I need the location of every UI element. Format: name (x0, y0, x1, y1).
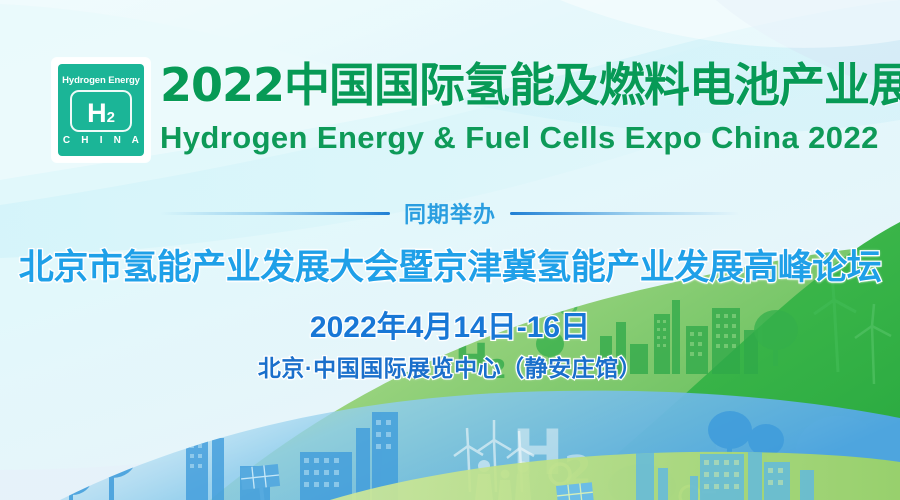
logo-h2-text: H2 (87, 100, 115, 130)
logo-inner-tile: Hydrogen Energy H2 C H I N A (58, 64, 144, 156)
logo-subscript: 2 (107, 109, 115, 126)
forum-title: 北京市氢能产业发展大会暨京津冀氢能产业发展高峰论坛 (0, 249, 900, 288)
poster-canvas: H2 (0, 0, 900, 500)
logo-element-symbol: H (87, 98, 107, 128)
event-venue: 北京·中国国际展览中心（静安庄馆） (0, 357, 900, 380)
event-date: 2022年4月14日-16日 (0, 313, 900, 343)
logo-top-text: Hydrogen Energy (62, 76, 140, 86)
concurrent-event-divider: 同期举办 (0, 198, 900, 228)
page-title-english: Hydrogen Energy & Fuel Cells Expo China … (160, 122, 879, 153)
divider-line-left (160, 212, 390, 215)
page-title-chinese: 2022中国国际氢能及燃料电池产业展览会 (160, 62, 900, 108)
divider-line-right (510, 212, 740, 215)
logo-bottom-text: C H I N A (59, 136, 143, 146)
event-logo: Hydrogen Energy H2 C H I N A (52, 58, 150, 162)
logo-h2-box: H2 (70, 90, 132, 132)
divider-label: 同期举办 (404, 197, 496, 229)
